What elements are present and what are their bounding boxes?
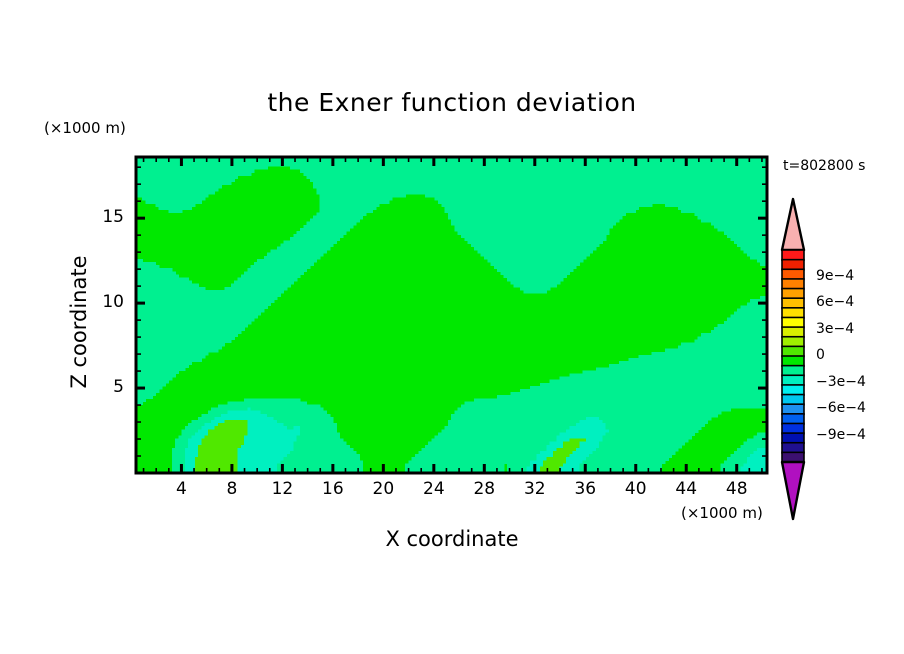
contour-plot bbox=[0, 0, 904, 654]
figure-canvas: the Exner function deviation (×1000 m) t… bbox=[0, 0, 904, 654]
x-tick-label: 48 bbox=[712, 479, 762, 499]
colorbar-tick-label: −3e−4 bbox=[816, 374, 866, 390]
colorbar-tick-label: 9e−4 bbox=[816, 268, 854, 284]
contour-field bbox=[136, 157, 768, 474]
x-tick-label: 16 bbox=[308, 479, 358, 499]
x-tick-label: 28 bbox=[459, 479, 509, 499]
colorbar-tick-label: 3e−4 bbox=[816, 321, 854, 337]
x-tick-label: 44 bbox=[661, 479, 711, 499]
x-tick-label: 40 bbox=[611, 479, 661, 499]
x-tick-label: 24 bbox=[409, 479, 459, 499]
colorbar-tick-label: 6e−4 bbox=[816, 294, 854, 310]
colorbar-tick-label: 0 bbox=[816, 347, 825, 363]
x-tick-label: 4 bbox=[156, 479, 206, 499]
x-axis-title: X coordinate bbox=[0, 527, 904, 551]
x-tick-label: 20 bbox=[358, 479, 408, 499]
colorbar-tick-label: −6e−4 bbox=[816, 400, 866, 416]
colorbar-unit-label: (×1000 m) bbox=[681, 504, 763, 522]
x-tick-label: 32 bbox=[510, 479, 560, 499]
colorbar-tick-label: −9e−4 bbox=[816, 427, 866, 443]
x-tick-label: 8 bbox=[207, 479, 257, 499]
x-tick-label: 36 bbox=[560, 479, 610, 499]
y-axis-title: Z coordinate bbox=[67, 222, 91, 422]
colorbar bbox=[782, 199, 804, 519]
x-tick-label: 12 bbox=[257, 479, 307, 499]
